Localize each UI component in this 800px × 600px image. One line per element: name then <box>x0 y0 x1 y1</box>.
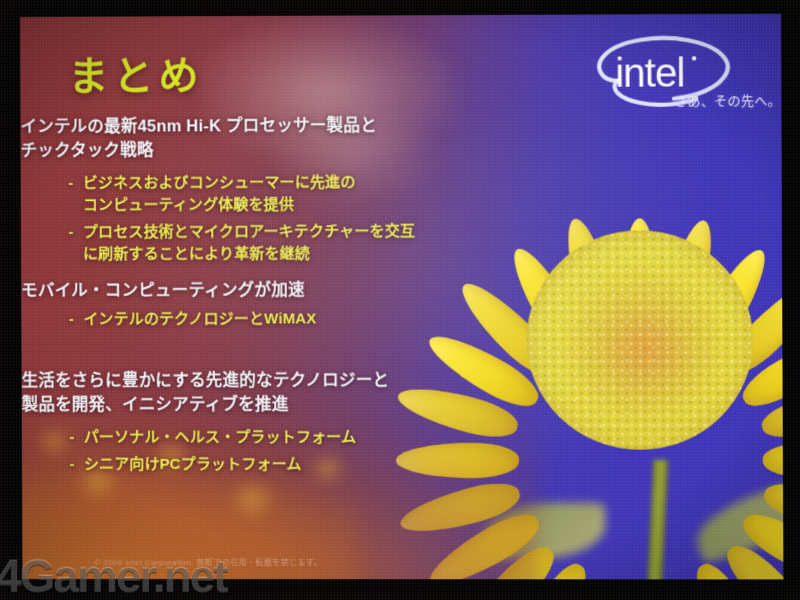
heading-line: 生活をさらに豊かにする先進的なテクノロジーと <box>22 368 454 393</box>
svg-text:intel: intel <box>615 51 684 96</box>
bullet-text: プロセス技術とマイクロアーキテクチャーを交互 に刷新することにより革新を継続 <box>83 221 415 266</box>
heading-line: モバイル・コンピューティングが加速 <box>21 278 453 303</box>
intel-tagline: さあ、その先へ。™ <box>674 90 783 110</box>
heading-line: 製品を開発、イニシアティブを推進 <box>22 393 454 417</box>
block-2-bullets: - インテルのテクノロジーとWiMAX <box>59 308 453 331</box>
intel-logo-mark: intel <box>552 28 775 129</box>
bullet-marker: - <box>59 309 83 331</box>
bullet-marker: - <box>60 427 84 449</box>
bullet-item: - インテルのテクノロジーとWiMAX <box>59 308 453 331</box>
bullet-marker: - <box>60 454 84 476</box>
sunflower-disk <box>526 230 753 450</box>
heading-line: チックタック戦略 <box>21 138 453 163</box>
content-block-3: 生活をさらに豊かにする先進的なテクノロジーと 製品を開発、イニシアティブを推進 … <box>22 368 454 481</box>
heading-line: インテルの最新45nm Hi-K プロセッサー製品と <box>20 113 452 139</box>
projected-slide: intel さあ、その先へ。™ まとめ インテルの最新45nm Hi-K プロセ… <box>20 14 783 580</box>
bullet-text: インテルのテクノロジーとWiMAX <box>83 308 316 330</box>
bullet-marker: - <box>59 222 83 244</box>
content-block-2: モバイル・コンピューティングが加速 - インテルのテクノロジーとWiMAX <box>21 278 453 336</box>
block-1-heading: インテルの最新45nm Hi-K プロセッサー製品と チックタック戦略 <box>20 113 452 163</box>
bullet-item: - プロセス技術とマイクロアーキテクチャーを交互 に刷新することにより革新を継続 <box>59 221 453 266</box>
bullet-item: - ビジネスおよびコンシューマーに先進の コンピューティング体験を提供 <box>59 172 453 217</box>
bullet-marker: - <box>59 173 83 195</box>
screenshot-stage: intel さあ、その先へ。™ まとめ インテルの最新45nm Hi-K プロセ… <box>0 0 800 600</box>
block-3-heading: 生活をさらに豊かにする先進的なテクノロジーと 製品を開発、イニシアティブを推進 <box>22 368 454 417</box>
intel-tagline-text: さあ、その先へ。 <box>674 93 781 108</box>
intel-logo: intel さあ、その先へ。™ <box>552 28 775 129</box>
bullet-text: ビジネスおよびコンシューマーに先進の コンピューティング体験を提供 <box>83 172 356 217</box>
bullet-text: パーソナル・ヘルス・プラットフォーム <box>84 427 356 449</box>
block-1-bullets: - ビジネスおよびコンシューマーに先進の コンピューティング体験を提供 - プロ… <box>59 172 453 266</box>
content-block-1: インテルの最新45nm Hi-K プロセッサー製品と チックタック戦略 - ビジ… <box>20 113 452 271</box>
block-3-bullets: - パーソナル・ヘルス・プラットフォーム - シニア向けPCプラットフォーム <box>60 427 454 476</box>
slide-footnote: © 2008 intel Corporation. 無断での引用・転載を禁じます… <box>94 557 516 568</box>
bullet-text: シニア向けPCプラットフォーム <box>84 454 302 476</box>
sunflower-disk-texture-overlay <box>526 230 753 450</box>
block-2-heading: モバイル・コンピューティングが加速 <box>21 278 453 303</box>
slide-title: まとめ <box>68 43 204 102</box>
bullet-item: - シニア向けPCプラットフォーム <box>60 454 454 476</box>
bullet-item: - パーソナル・ヘルス・プラットフォーム <box>60 427 454 449</box>
